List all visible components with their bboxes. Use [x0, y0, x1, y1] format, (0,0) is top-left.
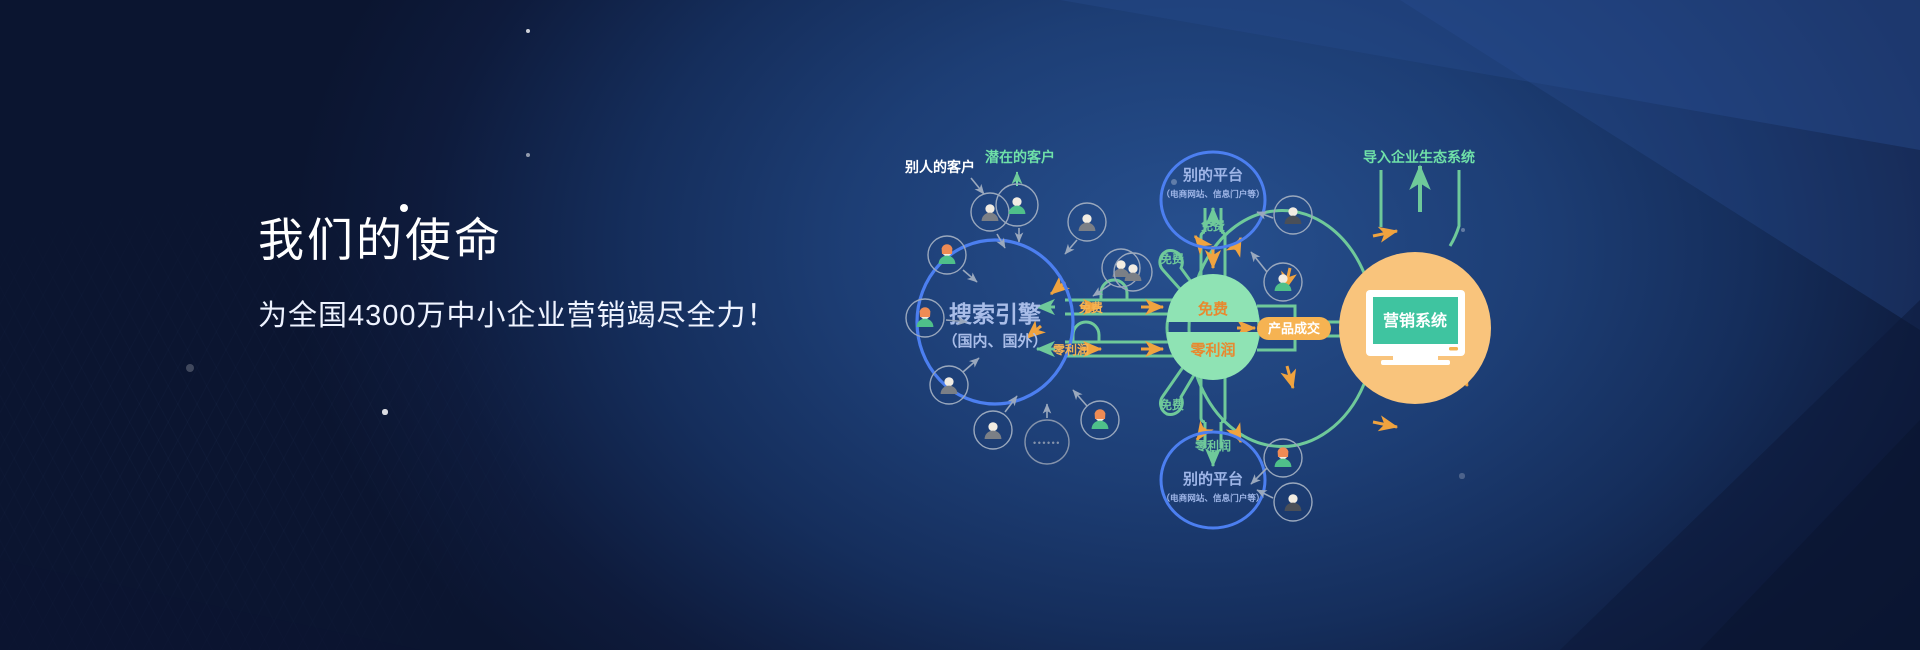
callout-arrows: [971, 178, 984, 194]
flow-label-free-branch-top: 免费: [1160, 251, 1184, 266]
node-marketing-system[interactable]: 营销系统: [1339, 252, 1491, 404]
avatar[interactable]: [1264, 263, 1302, 301]
platform-top-subtitle: （电商网站、信息门户等）: [1161, 188, 1264, 199]
page-title: 我们的使命: [258, 212, 777, 270]
node-platform-bottom[interactable]: 零利润 别的平台 （电商网站、信息门户等）: [1161, 432, 1265, 528]
ellipsis-label: ••••••: [1033, 438, 1061, 448]
node-platform-top[interactable]: 别的平台 （电商网站、信息门户等） 免费: [1161, 152, 1265, 248]
avatar[interactable]: [971, 193, 1009, 231]
platform-bottom-badge: 零利润: [1194, 438, 1231, 453]
decorative-dot: [526, 29, 530, 33]
avatar-ellipsis-node[interactable]: ••••••: [1025, 420, 1069, 464]
decorative-dot: [186, 364, 194, 372]
platform-top-badge: 免费: [1201, 218, 1225, 233]
marketing-system-label: 营销系统: [1383, 311, 1447, 330]
hero-banner: 我们的使命 为全国4300万中小企业营销竭尽全力！: [0, 0, 1920, 650]
avatar[interactable]: [974, 411, 1012, 449]
flow-label-free: 免费: [1079, 300, 1103, 315]
deal-pill-label: 产品成交: [1268, 321, 1320, 336]
platform-bottom-subtitle: （电商网站、信息门户等）: [1161, 492, 1264, 503]
avatar[interactable]: [1274, 483, 1312, 521]
search-engine-title: 搜索引擎: [949, 301, 1041, 327]
deal-pill[interactable]: 产品成交: [1257, 317, 1331, 340]
platform-bottom-title: 别的平台: [1182, 470, 1243, 488]
label-potential-customers: 潜在的客户: [985, 149, 1055, 165]
hub-top-label: 免费: [1198, 300, 1228, 318]
avatar[interactable]: [1264, 439, 1302, 477]
avatar-platform-arrows: [1251, 212, 1273, 498]
ecosystem-diagram: 搜索引擎 （国内、国外） 免费 零利润 免费 免费 别的平台 （电商网站、信息门…: [905, 150, 1595, 530]
decorative-dot: [382, 409, 387, 414]
hero-copy: 我们的使命 为全国4300万中小企业营销竭尽全力！: [258, 212, 777, 335]
avatar[interactable]: [996, 184, 1038, 226]
flow-label-free-branch-bottom: 免费: [1160, 397, 1184, 412]
avatar[interactable]: [930, 366, 968, 404]
avatar[interactable]: [906, 299, 944, 337]
node-search-engine[interactable]: 搜索引擎 （国内、国外）: [917, 240, 1073, 404]
avatar[interactable]: [1068, 203, 1106, 241]
hub-bottom-label: 零利润: [1189, 341, 1235, 359]
background-mesh-texture: [0, 120, 760, 650]
label-others-customers: 别人的客户: [904, 159, 975, 175]
platform-top-title: 别的平台: [1182, 166, 1243, 184]
label-import-ecosystem: 导入企业生态系统: [1363, 149, 1475, 165]
flow-label-zero-profit: 零利润: [1052, 342, 1089, 357]
decorative-dot: [526, 153, 530, 157]
decorative-dot: [400, 204, 408, 212]
avatar[interactable]: [928, 236, 966, 274]
avatar[interactable]: [1081, 401, 1119, 439]
page-subtitle: 为全国4300万中小企业营销竭尽全力！: [258, 298, 777, 336]
search-engine-subtitle: （国内、国外）: [942, 332, 1047, 350]
